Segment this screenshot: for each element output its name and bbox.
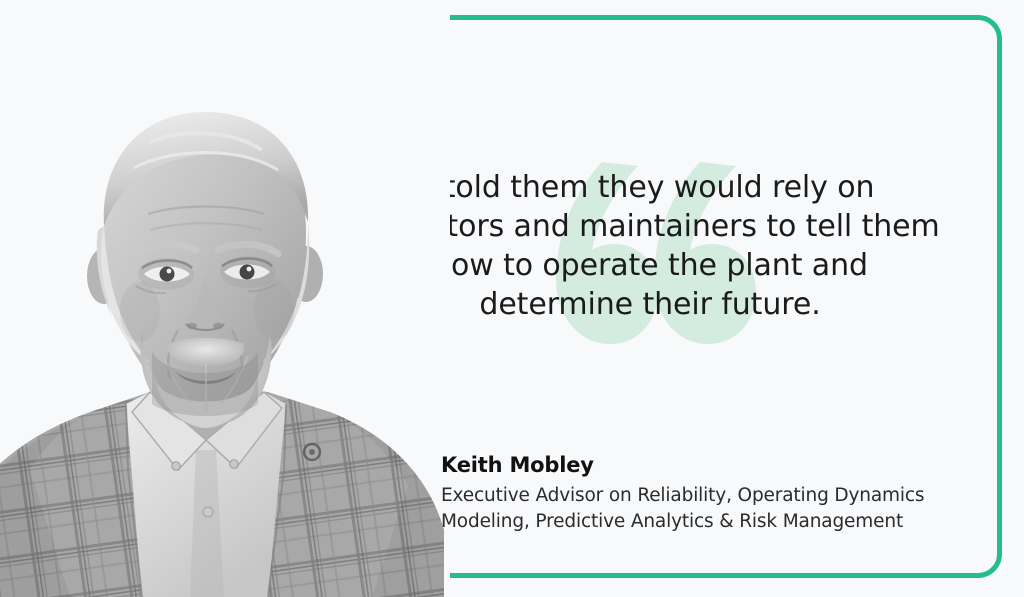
attribution-role-line: Executive Advisor on Reliability, Operat… [441,483,961,509]
portrait-photo [0,0,450,597]
attribution: Keith Mobley Executive Advisor on Reliab… [441,452,961,535]
attribution-name: Keith Mobley [441,452,961,479]
quote-card: I told them they would rely on operators… [0,0,1024,597]
attribution-role: Executive Advisor on Reliability, Operat… [441,483,961,535]
attribution-role-line: Modeling, Predictive Analytics & Risk Ma… [441,509,961,535]
